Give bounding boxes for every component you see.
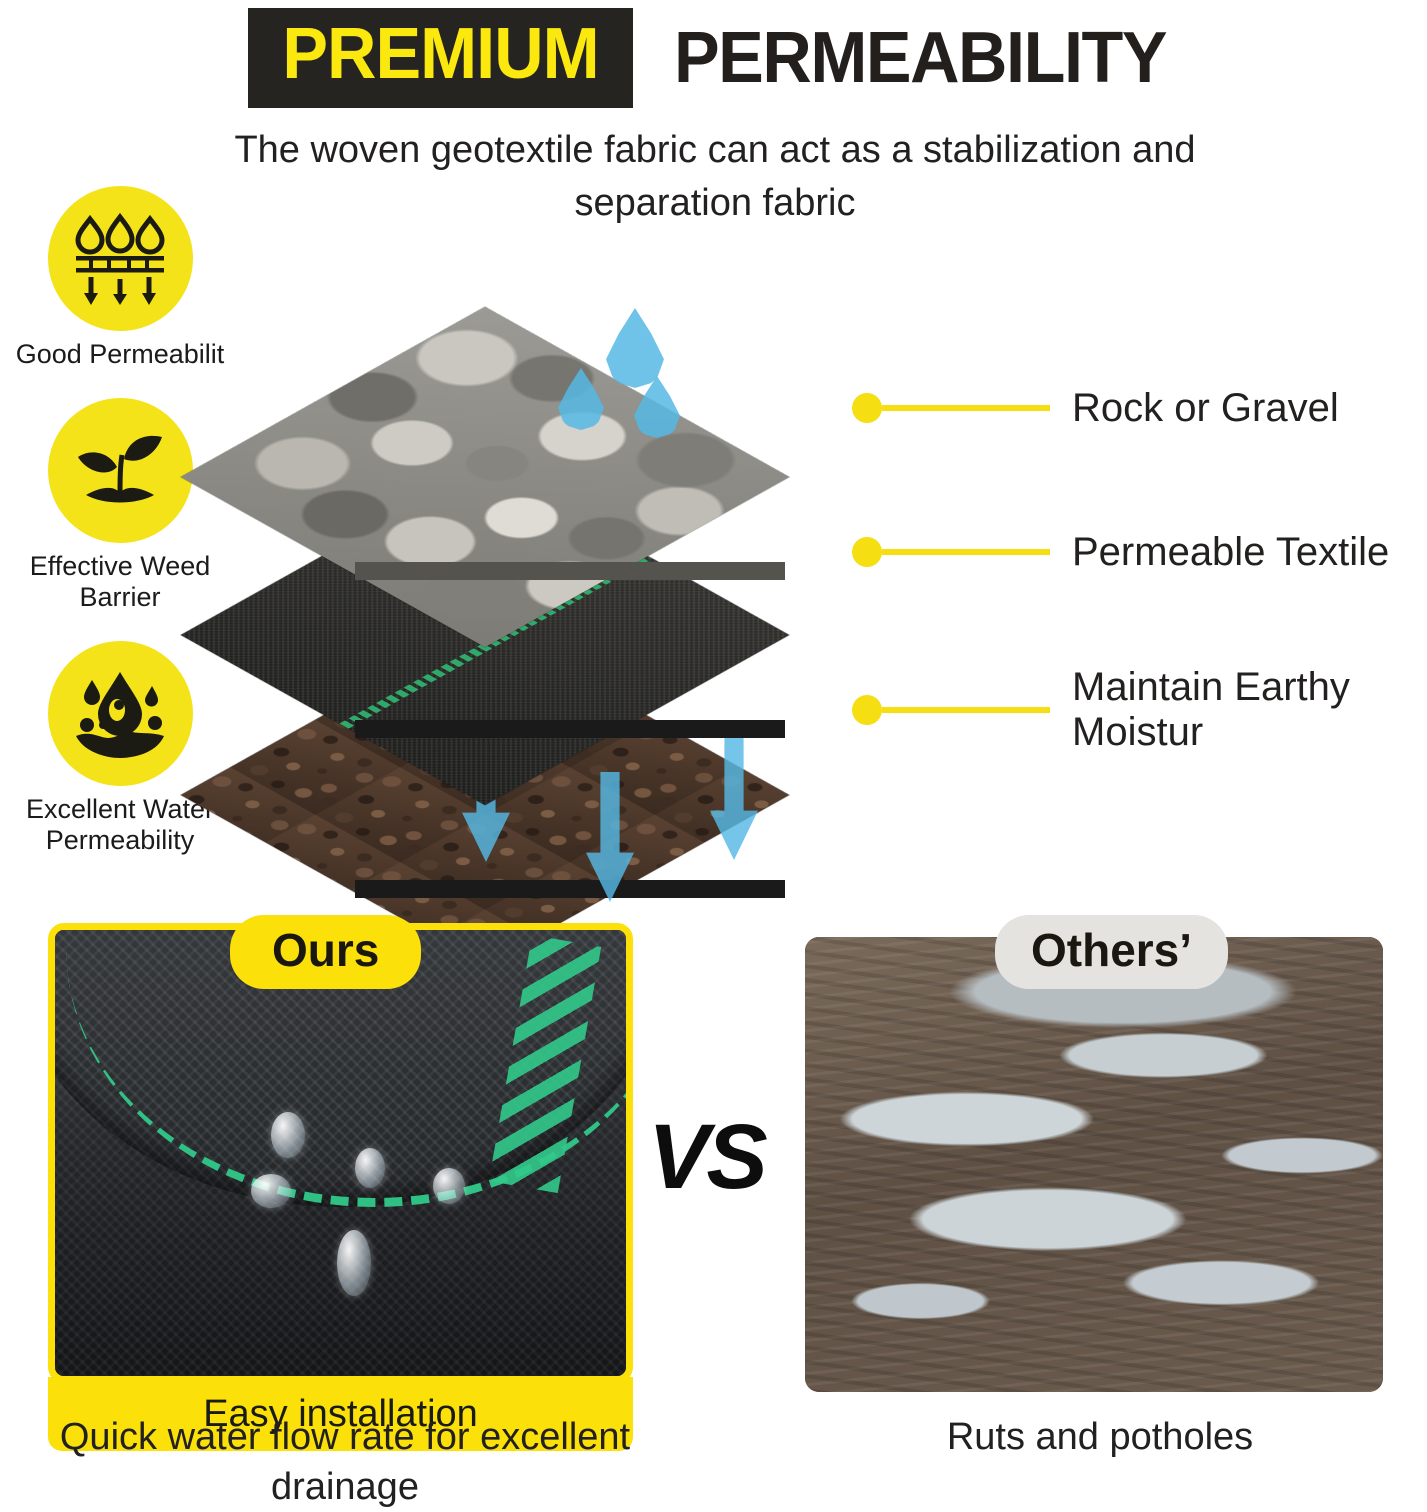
feature-label-weed-barrier: Effective Weed Barrier [0, 551, 240, 613]
ours-bottom-caption: Quick water flow rate for excellent drai… [40, 1412, 650, 1512]
gravel-layer-edge [355, 562, 785, 580]
callout-permeable-textile: Permeable Textile [852, 530, 1389, 575]
geotextile-layer-edge [355, 720, 785, 738]
callout-line [882, 707, 1050, 713]
ours-photo-frame [48, 923, 633, 1383]
feature-item-weed-barrier: Effective Weed Barrier [0, 398, 240, 613]
feature-list: Good Permeabilit Effective Weed Barrier [0, 186, 240, 884]
water-permeability-glyph [70, 211, 170, 307]
water-drip [433, 1168, 465, 1204]
permeability-word: PERMEABILITY [674, 22, 1166, 94]
layer-diagram [270, 280, 970, 900]
others-mud-photo [805, 937, 1383, 1392]
water-drip [355, 1148, 385, 1188]
callout-label-moisture: Maintain Earthy Moistur [1072, 665, 1350, 755]
callout-rock-or-gravel: Rock or Gravel [852, 386, 1339, 431]
others-badge: Others’ [995, 915, 1228, 989]
water-drop-wave-glyph [70, 668, 170, 760]
water-drop-wave-icon [48, 641, 193, 786]
vs-label: VS [648, 1105, 765, 1210]
callout-dot-icon [852, 695, 882, 725]
sprout-glyph [70, 425, 170, 517]
feature-item-permeability: Good Permeabilit [0, 186, 240, 370]
others-bottom-caption: Ruts and potholes [800, 1412, 1400, 1462]
sprout-weed-barrier-icon [48, 398, 193, 543]
callout-line [882, 549, 1050, 555]
callout-earthy-moisture: Maintain Earthy Moistur [852, 665, 1350, 755]
others-photo-frame [805, 937, 1383, 1392]
premium-word: PREMIUM [282, 18, 598, 90]
water-permeability-icon [48, 186, 193, 331]
callout-dot-icon [852, 393, 882, 423]
callout-line [882, 405, 1050, 411]
water-droplet [606, 308, 664, 388]
feature-label-permeability: Good Permeabilit [0, 339, 240, 370]
water-drip [337, 1230, 371, 1296]
water-drip [271, 1112, 305, 1158]
page-header: PREMIUM PERMEABILITY [0, 4, 1427, 112]
subtitle-text: The woven geotextile fabric can act as a… [150, 124, 1280, 230]
callout-label-gravel: Rock or Gravel [1072, 386, 1339, 431]
water-drip [251, 1174, 291, 1208]
callout-label-textile: Permeable Textile [1072, 530, 1389, 575]
ours-badge: Ours [230, 915, 421, 989]
premium-badge: PREMIUM [248, 8, 633, 108]
feature-item-water-permeability: Excellent Water Permeability [0, 641, 240, 856]
soil-layer-edge [355, 880, 785, 898]
callout-dot-icon [852, 537, 882, 567]
ours-fabric-photo [55, 930, 626, 1376]
